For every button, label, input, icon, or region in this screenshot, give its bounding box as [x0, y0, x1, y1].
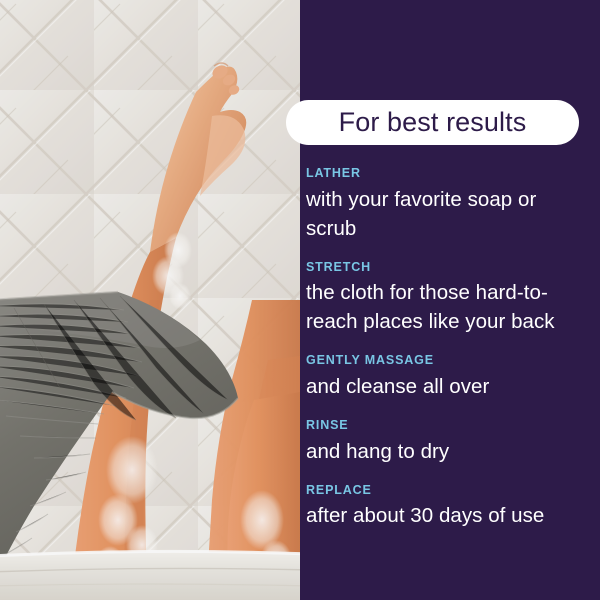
step-body-replace: after about 30 days of use: [306, 501, 586, 530]
list-item: STRETCH the cloth for those hard-to-reac…: [306, 260, 586, 337]
step-label-lather: LATHER: [306, 166, 586, 182]
step-body-gently-massage: and cleanse all over: [306, 372, 586, 401]
title-pill: For best results: [286, 100, 579, 145]
page-title: For best results: [339, 109, 527, 136]
step-body-stretch: the cloth for those hard-to-reach places…: [306, 278, 586, 336]
step-body-lather: with your favorite soap or scrub: [306, 185, 586, 243]
step-label-gently-massage: GENTLY MASSAGE: [306, 353, 586, 369]
instruction-steps-list: LATHER with your favorite soap or scrub …: [306, 166, 586, 530]
step-body-rinse: and hang to dry: [306, 437, 586, 466]
list-item: LATHER with your favorite soap or scrub: [306, 166, 586, 243]
instruction-card: For best results LATHER with your favori…: [0, 0, 600, 600]
list-item: REPLACE after about 30 days of use: [306, 483, 586, 531]
list-item: RINSE and hang to dry: [306, 418, 586, 466]
list-item: GENTLY MASSAGE and cleanse all over: [306, 353, 586, 401]
step-label-stretch: STRETCH: [306, 260, 586, 276]
step-label-replace: REPLACE: [306, 483, 586, 499]
step-label-rinse: RINSE: [306, 418, 586, 434]
panel-content: For best results LATHER with your favori…: [0, 0, 600, 600]
